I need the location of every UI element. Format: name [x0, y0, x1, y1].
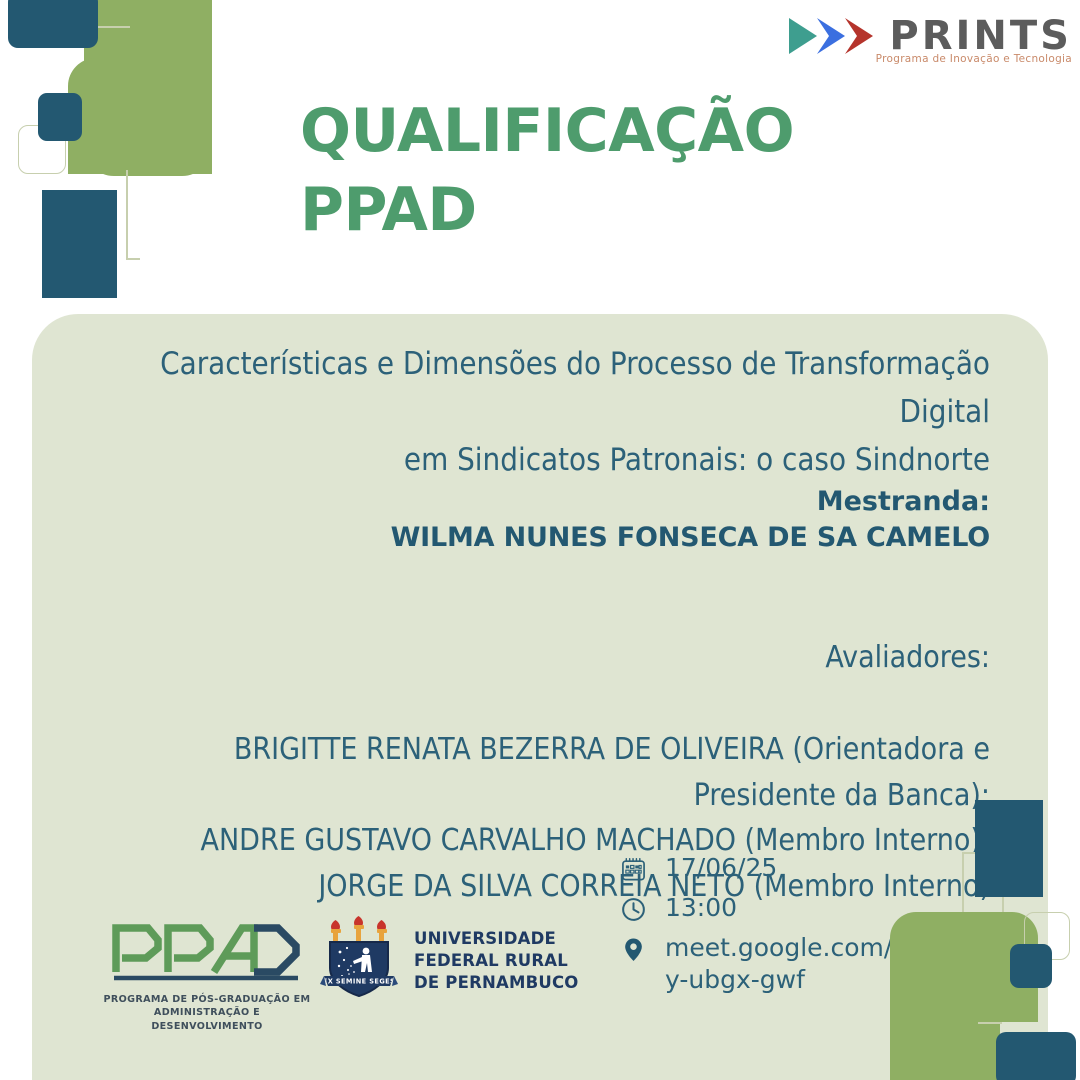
decorative-blue-square: [1010, 944, 1052, 988]
event-time-row: 13:00: [618, 892, 915, 924]
event-info-list: 17/06/25 13:00: [618, 852, 915, 996]
evaluators-label: Avaliadores:: [62, 635, 990, 681]
student-name: WILMA NUNES FONSECA DE SA CAMELO: [92, 520, 990, 556]
prints-chevron-icon: [787, 14, 883, 58]
student-role-label: Mestranda:: [92, 484, 990, 520]
decorative-blue-rect-bottom: [996, 1032, 1076, 1080]
ppad-tagline: PROGRAMA DE PÓS-GRADUAÇÃO EM ADMINISTRAÇ…: [102, 993, 312, 1033]
decorative-connector-line: [96, 26, 130, 28]
prints-logo: PRINTS: [787, 14, 1072, 58]
page-title: QUALIFICAÇÃO PPAD: [300, 92, 794, 250]
student-block: Mestranda: WILMA NUNES FONSECA DE SA CAM…: [92, 484, 990, 557]
ufrpe-logo: EX SEMINE SEGES UNIVERSIDADE FEDERAL RUR…: [320, 916, 579, 1006]
prints-tagline: Programa de Inovação e Tecnologia: [876, 53, 1072, 65]
location-pin-icon: [618, 934, 648, 964]
ufrpe-name: UNIVERSIDADE FEDERAL RURAL DE PERNAMBUCO: [414, 928, 579, 994]
event-time: 13:00: [665, 892, 737, 924]
decorative-connector-line: [962, 852, 964, 918]
decorative-connector-line: [126, 258, 140, 260]
decorative-green-shape-mid: [68, 58, 212, 174]
event-location: meet.google.com/ie y-ubgx-gwf: [665, 932, 915, 996]
thesis-title: Características e Dimensões do Processo …: [92, 340, 990, 484]
clock-icon: [618, 894, 648, 924]
decorative-blue-square: [38, 93, 82, 141]
ppad-logo-mark: [102, 914, 312, 986]
prints-wordmark: PRINTS: [889, 16, 1072, 56]
decorative-connector-line: [126, 170, 128, 260]
decorative-blue-rect-top: [975, 800, 1043, 897]
event-date-row: 17/06/25: [618, 852, 915, 884]
ppad-logo: PROGRAMA DE PÓS-GRADUAÇÃO EM ADMINISTRAÇ…: [102, 914, 312, 1033]
decorative-green-shape-lower: [890, 1000, 1000, 1080]
svg-text:EX SEMINE SEGES: EX SEMINE SEGES: [323, 977, 395, 985]
event-date: 17/06/25: [665, 852, 777, 884]
ufrpe-crest-icon: EX SEMINE SEGES: [320, 916, 398, 1006]
calendar-icon: [618, 854, 648, 884]
decorative-blue-rect-top: [8, 0, 98, 48]
event-location-row: meet.google.com/ie y-ubgx-gwf: [618, 932, 915, 996]
decorative-blue-rect-tall: [42, 190, 117, 298]
poster-canvas: PRINTS Programa de Inovação e Tecnologia…: [0, 0, 1080, 1080]
decorative-connector-line: [978, 1022, 1002, 1024]
